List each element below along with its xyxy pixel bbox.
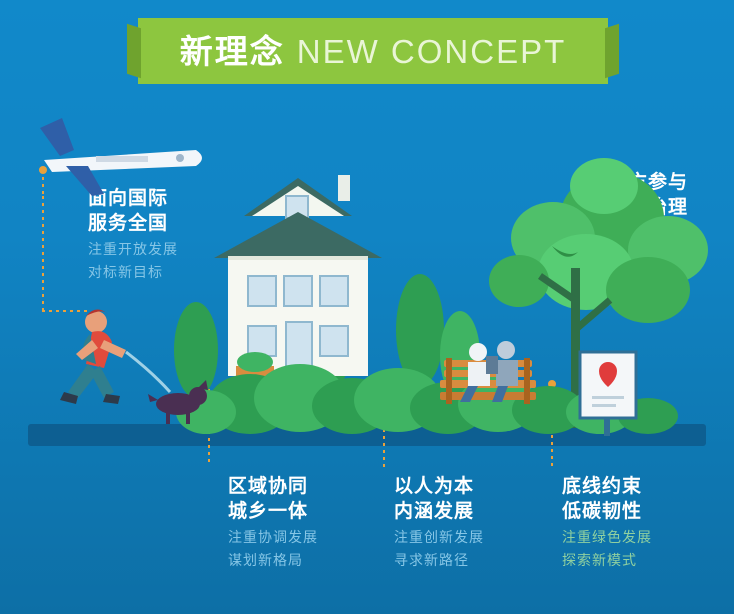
infographic-canvas: 面向国际 服务全国 注重开放发展 对标新目标 多方参与 协同治理 注重共享发展 … — [0, 0, 734, 614]
airplane-icon — [40, 118, 202, 196]
scene-illustration — [0, 0, 734, 614]
house-icon — [214, 175, 382, 380]
title-banner: 新理念 NEW CONCEPT — [138, 18, 608, 84]
title-english: NEW CONCEPT — [297, 35, 567, 68]
title-chinese: 新理念 — [180, 35, 285, 68]
